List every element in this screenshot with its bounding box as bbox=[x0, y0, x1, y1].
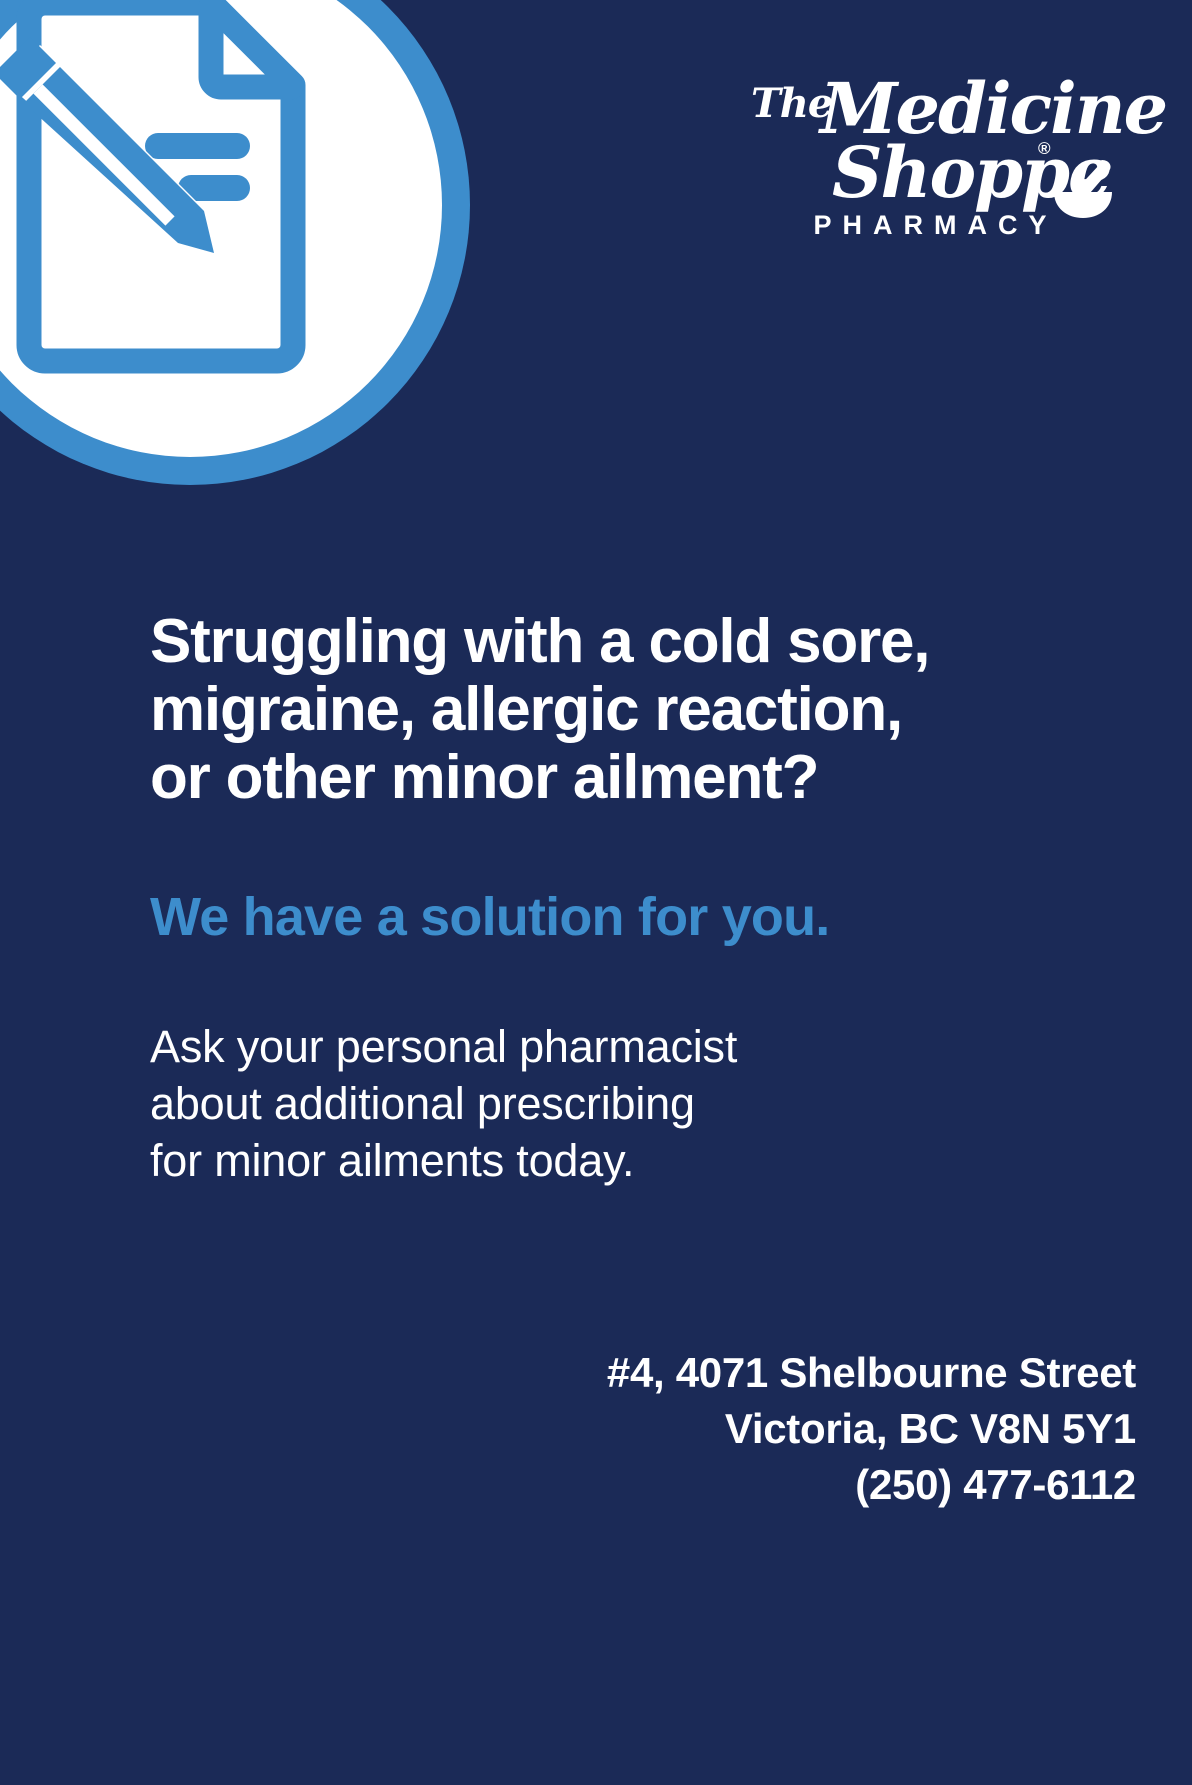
body-copy-line-2: about additional prescribing bbox=[150, 1075, 990, 1132]
address-city-province-postal: Victoria, BC V8N 5Y1 bbox=[607, 1401, 1136, 1457]
badge-graphic bbox=[0, 0, 470, 485]
logo-word-pharmacy: PHARMACY bbox=[720, 212, 1140, 239]
address-phone[interactable]: (250) 477-6112 bbox=[607, 1457, 1136, 1513]
brand-logo: The Medicine Shoppe ® PHARMACY bbox=[720, 76, 1140, 226]
body-copy-line-3: for minor ailments today. bbox=[150, 1132, 990, 1189]
headline-line-1: Struggling with a cold sore, bbox=[150, 608, 1070, 676]
address-block: #4, 4071 Shelbourne Street Victoria, BC … bbox=[607, 1345, 1136, 1513]
subheadline: We have a solution for you. bbox=[150, 888, 1070, 947]
address-street: #4, 4071 Shelbourne Street bbox=[607, 1345, 1136, 1401]
body-copy: Ask your personal pharmacist about addit… bbox=[150, 1018, 990, 1189]
poster-canvas: The Medicine Shoppe ® PHARMACY Strugglin… bbox=[0, 0, 1192, 1785]
mortar-and-pestle-icon bbox=[1050, 158, 1116, 220]
headline: Struggling with a cold sore, migraine, a… bbox=[150, 608, 1070, 813]
logo-lockup: The Medicine Shoppe ® PHARMACY bbox=[720, 76, 1140, 226]
headline-line-2: migraine, allergic reaction, bbox=[150, 676, 1070, 744]
headline-line-3: or other minor ailment? bbox=[150, 744, 1070, 812]
body-copy-line-1: Ask your personal pharmacist bbox=[150, 1018, 990, 1075]
document-with-pencil-icon bbox=[0, 0, 382, 405]
registered-trademark-icon: ® bbox=[1038, 140, 1051, 157]
